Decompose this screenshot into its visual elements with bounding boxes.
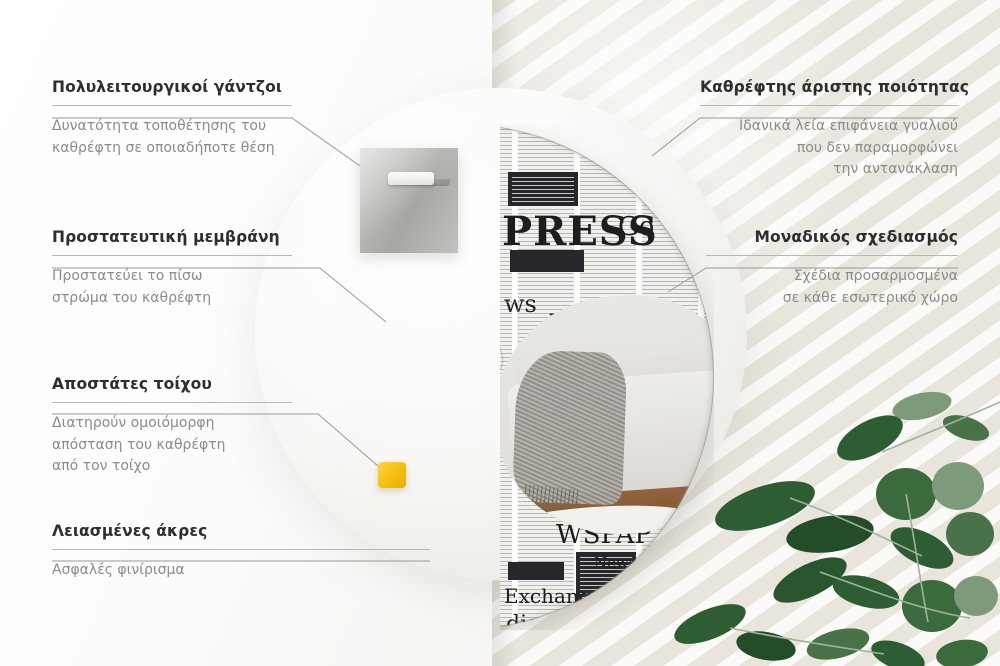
callout-rule	[700, 105, 958, 106]
callout-title: Προστατευτική μεμβράνη	[52, 228, 292, 246]
callout-description: Δυνατότητα τοποθέτησης του καθρέφτη σε ο…	[52, 116, 292, 159]
callout-edges: Λειασμένες άκρες Ασφαλές φινίρισμα	[52, 522, 292, 582]
callout-description: Διατηρούν ομοιόμορφη απόσταση του καθρέφ…	[52, 413, 292, 478]
callout-description: Ιδανικά λεία επιφάνεια γυαλιού που δεν π…	[700, 116, 958, 181]
callout-membrane: Προστατευτική μεμβράνη Προστατεύει το πί…	[52, 228, 292, 309]
hook-sheen	[360, 148, 458, 253]
callout-title: Λειασμένες άκρες	[52, 522, 292, 540]
callout-title: Καθρέφτης άριστης ποιότητας	[700, 78, 958, 96]
callout-title: Αποστάτες τοίχου	[52, 375, 292, 393]
callout-spacers: Αποστάτες τοίχου Διατηρούν ομοιόμορφη απ…	[52, 375, 292, 478]
foliage-decoration	[670, 366, 1000, 666]
callout-unique-design: Μοναδικός σχεδιασμός Σχέδια προσαρμοσμέν…	[706, 228, 958, 309]
wall-hook-plate	[360, 148, 458, 253]
callout-hooks: Πολυλειτουργικοί γάντζοι Δυνατότητα τοπο…	[52, 78, 292, 159]
callout-rule	[706, 255, 958, 256]
wall-spacer-yellow	[378, 462, 406, 488]
infographic-canvas: PRESS Go ws NEWSPA News and S usiness ke…	[0, 0, 1000, 666]
callout-quality-mirror: Καθρέφτης άριστης ποιότητας Ιδανικά λεία…	[700, 78, 958, 181]
callout-rule	[52, 402, 292, 403]
callout-title: Πολυλειτουργικοί γάντζοι	[52, 78, 292, 96]
newsprint-word-20: 20	[580, 610, 603, 628]
callout-description: Σχέδια προσαρμοσμένα σε κάθε εσωτερικό χ…	[706, 266, 958, 309]
callout-rule	[52, 549, 430, 550]
callout-description: Προστατεύει το πίσω στρώμα του καθρέφτη	[52, 266, 292, 309]
callout-rule	[52, 255, 292, 256]
callout-description: Ασφαλές φινίρισμα	[52, 560, 292, 582]
callout-title: Μοναδικός σχεδιασμός	[706, 228, 958, 246]
callout-rule	[52, 105, 292, 106]
